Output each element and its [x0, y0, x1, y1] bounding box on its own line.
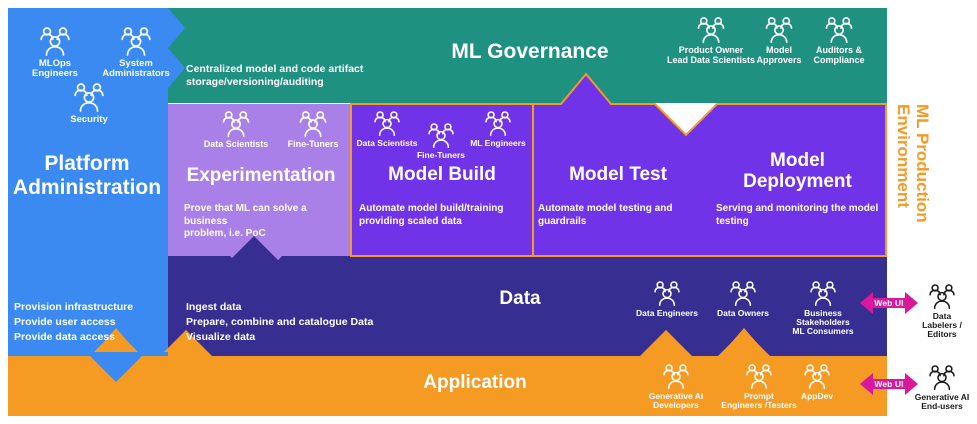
web-ui-label: Web UI: [874, 298, 903, 308]
people-group-icon: [759, 16, 799, 45]
persona-label: Security: [70, 115, 108, 125]
persona-label: Data Owners: [717, 309, 769, 318]
experimentation-title: Experimentation: [174, 165, 348, 186]
model-deployment-description: Serving and monitoring the model testing: [716, 203, 896, 228]
persona-label: Data Engineers: [636, 309, 698, 318]
people-group-icon: [479, 110, 517, 138]
persona-experimentation-fine-tuners: Fine-Tuners: [278, 110, 348, 150]
ml-governance-title: ML Governance: [420, 40, 640, 64]
people-group-icon: [293, 110, 333, 139]
people-group-icon: [216, 110, 256, 139]
persona-experimentation-data-scientists: Data Scientists: [196, 110, 276, 150]
persona-label: Data Labelers / Editors: [908, 312, 976, 340]
persona-label: AppDev: [801, 392, 833, 401]
people-group-icon: [691, 16, 731, 45]
model-build-description: Automate model build/training providing …: [359, 203, 539, 228]
persona-system-administrators: System Administrators: [96, 26, 176, 80]
ml-governance-description: Centralized model and code artifact stor…: [186, 63, 516, 89]
persona-generative-ai-developers: Generative AI Developers: [636, 363, 716, 410]
persona-business-stakeholders-ml-consumers: Business Stakeholders ML Consumers: [778, 280, 868, 337]
web-ui-label: Web UI: [874, 379, 903, 389]
people-group-icon: [368, 110, 406, 138]
people-group-icon: [819, 16, 859, 45]
persona-generative-ai-end-users: Generative AI End-users: [908, 364, 976, 411]
persona-label: MLOps Engineers: [32, 59, 78, 80]
persona-auditors-compliance: Auditors & Compliance: [806, 16, 872, 65]
persona-build-ml-engineers: ML Engineers: [462, 110, 534, 148]
people-group-icon: [740, 363, 778, 391]
diagram-canvas: MLOps Engineers System Administrators: [0, 0, 977, 424]
persona-model-approvers: Model Approvers: [748, 16, 810, 65]
people-group-icon: [114, 26, 158, 58]
persona-label: Product Owner Lead Data Scientists: [667, 46, 755, 65]
people-group-icon: [804, 280, 842, 308]
model-test-description: Automate model testing and guardrails: [538, 203, 708, 228]
model-deployment-title: Model Deployment: [710, 150, 885, 193]
persona-label: Fine-Tuners: [417, 151, 465, 160]
people-group-icon: [657, 363, 695, 391]
persona-label: Generative AI Developers: [649, 392, 704, 410]
people-group-icon: [724, 280, 762, 308]
persona-data-owners: Data Owners: [709, 280, 777, 318]
application-title: Application: [385, 372, 565, 393]
persona-label: Data Scientists: [204, 140, 269, 150]
persona-label: Business Stakeholders ML Consumers: [778, 309, 868, 337]
persona-label: ML Engineers: [470, 139, 526, 148]
people-group-icon: [648, 280, 686, 308]
persona-appdev: AppDev: [786, 363, 848, 401]
data-bullets: Ingest data Prepare, combine and catalog…: [186, 300, 506, 345]
people-group-icon: [67, 82, 111, 114]
persona-mlops-engineers: MLOps Engineers: [20, 26, 90, 80]
experimentation-description: Prove that ML can solve a business probl…: [184, 203, 352, 241]
people-group-icon: [798, 363, 836, 391]
persona-data-labelers-editors: Data Labelers / Editors: [908, 283, 976, 340]
model-build-title: Model Build: [351, 164, 533, 185]
persona-product-owner-lead-data-scientists: Product Owner Lead Data Scientists: [661, 16, 761, 65]
persona-label: Fine-Tuners: [288, 140, 339, 150]
platform-administration-bullets: Provision infrastructure Provide user ac…: [14, 300, 174, 345]
people-group-icon: [923, 364, 961, 392]
people-group-icon: [923, 283, 961, 311]
ml-production-environment-label: ML Production Environment: [894, 104, 932, 254]
platform-administration-title: Platform Administration: [6, 152, 168, 199]
model-test-title: Model Test: [535, 164, 701, 185]
persona-label: Auditors & Compliance: [813, 46, 864, 65]
persona-security: Security: [58, 82, 120, 125]
persona-label: Model Approvers: [756, 46, 801, 65]
people-group-icon: [33, 26, 77, 58]
persona-label: Generative AI End-users: [915, 393, 970, 411]
persona-label: System Administrators: [102, 59, 170, 80]
people-group-icon: [422, 122, 460, 150]
persona-data-engineers: Data Engineers: [630, 280, 704, 318]
